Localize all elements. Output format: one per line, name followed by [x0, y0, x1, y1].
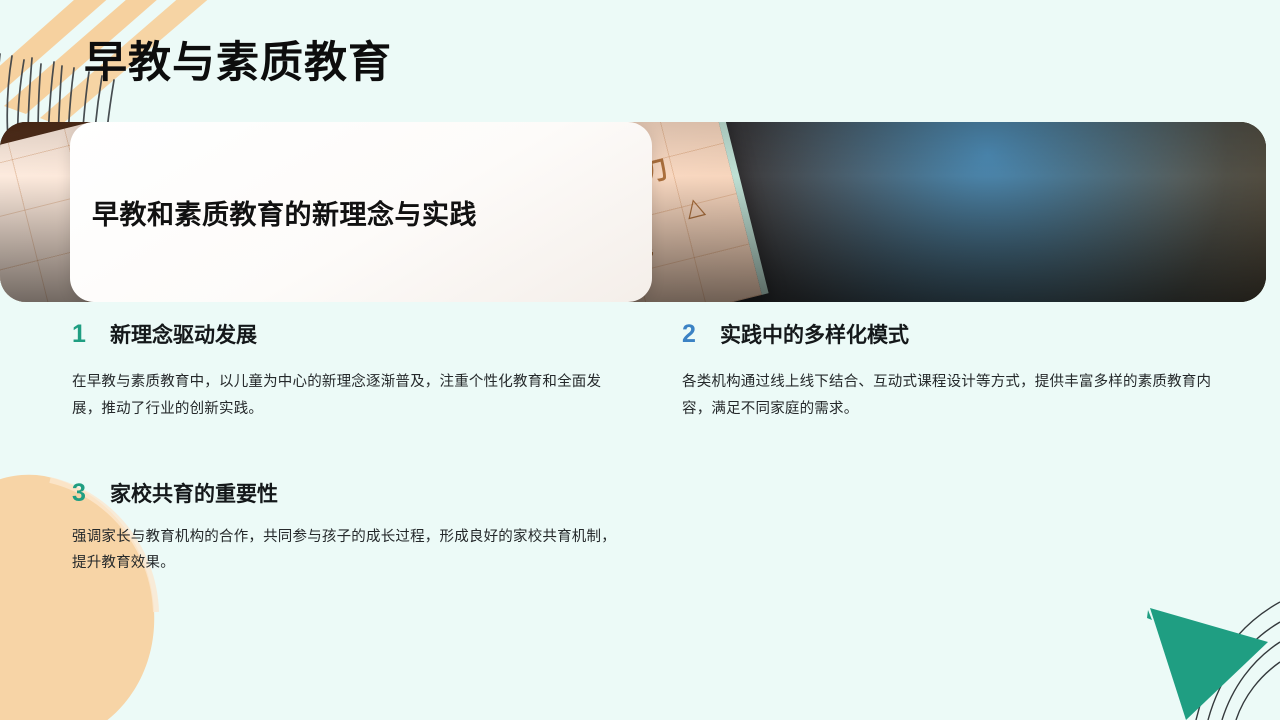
point-2-body: 各类机构通过线上线下结合、互动式课程设计等方式，提供丰富多样的素质教育内容，满足… — [682, 369, 1238, 423]
point-2-title: 实践中的多样化模式 — [720, 325, 909, 346]
point-3-number: 3 — [72, 481, 88, 506]
point-1-body: 在早教与素质教育中，以儿童为中心的新理念逐渐普及，注重个性化教育和全面发展，推动… — [72, 369, 628, 423]
page-title: 早教与素质教育 — [84, 40, 392, 87]
point-item-3: 3 家校共育的重要性 强调家长与教育机构的合作，共同参与孩子的成长过程，形成良好… — [72, 481, 628, 578]
point-1-header: 1 新理念驱动发展 — [72, 322, 628, 347]
point-1-title: 新理念驱动发展 — [110, 325, 257, 346]
points-grid-empty-cell — [682, 481, 1280, 578]
point-item-2: 2 实践中的多样化模式 各类机构通过线上线下结合、互动式课程设计等方式，提供丰富… — [682, 322, 1238, 423]
hero-banner: 大 ㄌ 刀 △ 术 龙 ※ 米 木 茶 ※ 小 乃 己 兆 丰 火 早教和素质教… — [0, 122, 1266, 302]
bottom-right-triangle-decoration — [1090, 580, 1280, 720]
point-2-number: 2 — [682, 322, 698, 347]
hero-subtitle-card: 早教和素质教育的新理念与实践 — [70, 122, 652, 302]
point-3-title: 家校共育的重要性 — [110, 484, 278, 505]
hero-subtitle-text: 早教和素质教育的新理念与实践 — [70, 193, 477, 232]
point-1-number: 1 — [72, 322, 88, 347]
point-3-body: 强调家长与教育机构的合作，共同参与孩子的成长过程，形成良好的家校共育机制，提升教… — [72, 524, 628, 578]
points-grid: 1 新理念驱动发展 在早教与素质教育中，以儿童为中心的新理念逐渐普及，注重个性化… — [0, 322, 1280, 577]
point-2-header: 2 实践中的多样化模式 — [682, 322, 1238, 347]
point-item-1: 1 新理念驱动发展 在早教与素质教育中，以儿童为中心的新理念逐渐普及，注重个性化… — [72, 322, 628, 423]
point-3-header: 3 家校共育的重要性 — [72, 481, 628, 506]
